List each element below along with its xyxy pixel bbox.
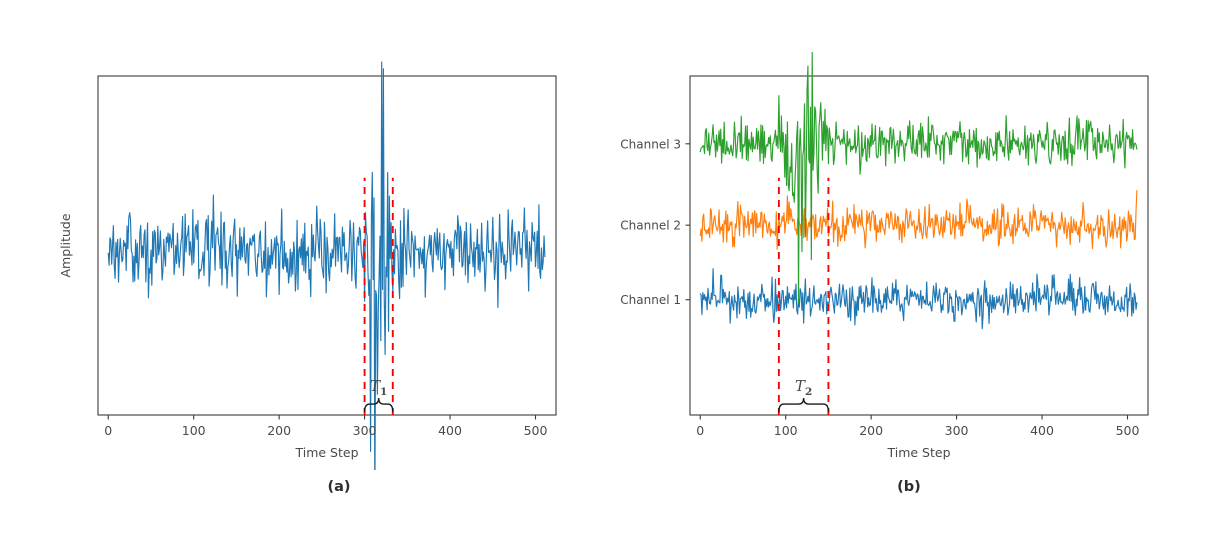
channel-label: Channel 2: [620, 219, 681, 233]
x-tick-label: 400: [438, 423, 462, 438]
duration-brace: [365, 398, 393, 412]
panel-a: T10100200300400500Time StepAmplitude: [0, 0, 600, 470]
x-tick-label: 300: [353, 423, 377, 438]
x-tick-label: 500: [524, 423, 548, 438]
channel-label: Channel 3: [620, 137, 681, 151]
x-tick-label: 200: [859, 423, 883, 438]
duration-brace: [779, 398, 829, 412]
figure-root: T10100200300400500Time StepAmplitude T20…: [0, 0, 1232, 533]
panel-b-caption: (b): [849, 479, 969, 495]
duration-label: T2: [795, 377, 812, 398]
x-tick-label: 200: [267, 423, 291, 438]
signal-line-channel-2: [700, 191, 1137, 250]
duration-label: T1: [370, 377, 387, 398]
x-axis-label: Time Step: [886, 445, 950, 460]
panel-b-canvas: T20100200300400500Channel 1Channel 2Chan…: [592, 0, 1232, 470]
channel-label: Channel 1: [620, 293, 681, 307]
panel-b: T20100200300400500Channel 1Channel 2Chan…: [592, 0, 1232, 470]
panel-a-caption: (a): [279, 479, 399, 495]
signal-line-channel-3: [700, 52, 1137, 302]
signal-line-channel-1: [700, 269, 1137, 329]
x-axis-label: Time Step: [294, 445, 358, 460]
x-tick-label: 400: [1030, 423, 1054, 438]
x-tick-label: 0: [104, 423, 112, 438]
panel-a-canvas: T10100200300400500Time StepAmplitude: [0, 0, 600, 470]
x-tick-label: 100: [774, 423, 798, 438]
x-tick-label: 500: [1116, 423, 1140, 438]
x-tick-label: 100: [182, 423, 206, 438]
signal-line-signal: [108, 62, 545, 470]
x-tick-label: 0: [696, 423, 704, 438]
x-tick-label: 300: [945, 423, 969, 438]
y-axis-label: Amplitude: [58, 213, 73, 277]
